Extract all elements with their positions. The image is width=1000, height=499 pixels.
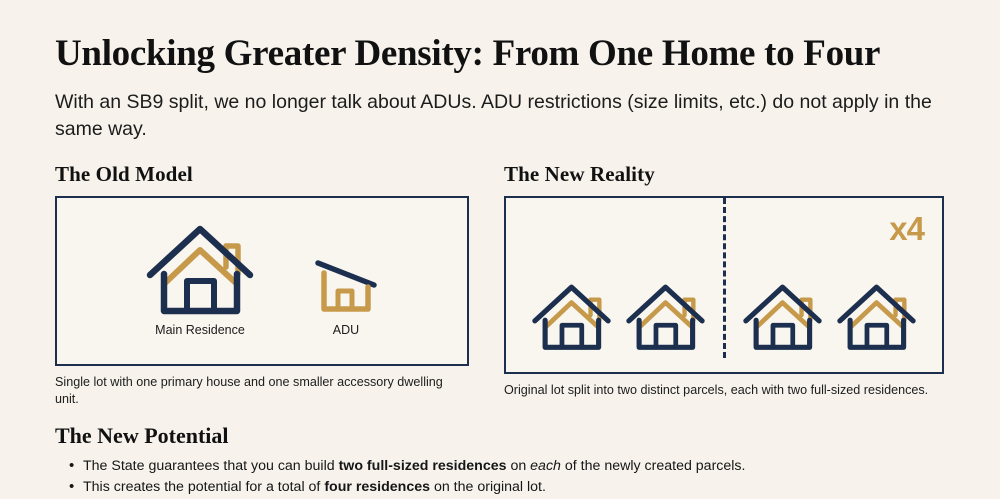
list-item-text: two full-sized residences — [339, 458, 507, 474]
new-potential-list: The State guarantees that you can build … — [55, 456, 945, 499]
adu-icon — [310, 253, 382, 319]
small-house-icon — [623, 279, 708, 354]
main-residence-label: Main Residence — [155, 323, 245, 337]
old-model-heading: The Old Model — [55, 162, 469, 187]
list-item-text: on — [507, 458, 531, 474]
comparison-section: The Old Model — [55, 162, 945, 407]
small-house-icon — [740, 279, 825, 354]
new-potential-section: The New Potential The State guarantees t… — [55, 423, 945, 499]
list-item-text: each — [530, 458, 561, 474]
page-subtitle: With an SB9 split, we no longer talk abo… — [55, 89, 945, 143]
new-potential-heading: The New Potential — [55, 423, 945, 449]
parcel-divider — [723, 198, 726, 358]
page-title: Unlocking Greater Density: From One Home… — [55, 32, 945, 76]
small-house-icon — [529, 279, 614, 354]
infographic-page: Unlocking Greater Density: From One Home… — [0, 0, 1000, 499]
old-model-panel: Main Residence — [55, 196, 469, 366]
x4-badge: x4 — [889, 210, 924, 248]
adu-label: ADU — [333, 323, 359, 337]
old-model-column: The Old Model — [55, 162, 469, 407]
parcel-left — [520, 198, 717, 358]
small-house-icon — [834, 279, 919, 354]
list-item-text: of the newly created parcels. — [561, 458, 746, 474]
main-residence-icon — [142, 219, 258, 319]
list-item-text: The State guarantees that you can build — [83, 458, 339, 474]
list-item: This creates the potential for a total o… — [69, 477, 945, 498]
adu-block: ADU — [310, 253, 382, 337]
new-reality-panel: x4 — [504, 196, 944, 374]
new-reality-caption: Original lot split into two distinct par… — [504, 382, 944, 398]
list-item-text: This creates the potential for a total o… — [83, 479, 324, 495]
old-model-caption: Single lot with one primary house and on… — [55, 374, 469, 407]
main-residence-block: Main Residence — [142, 219, 258, 337]
new-reality-column: The New Reality x4 — [504, 162, 944, 407]
list-item-text: on the original lot. — [430, 479, 546, 495]
new-reality-heading: The New Reality — [504, 162, 944, 187]
list-item-text: four residences — [324, 479, 430, 495]
list-item: The State guarantees that you can build … — [69, 456, 945, 477]
